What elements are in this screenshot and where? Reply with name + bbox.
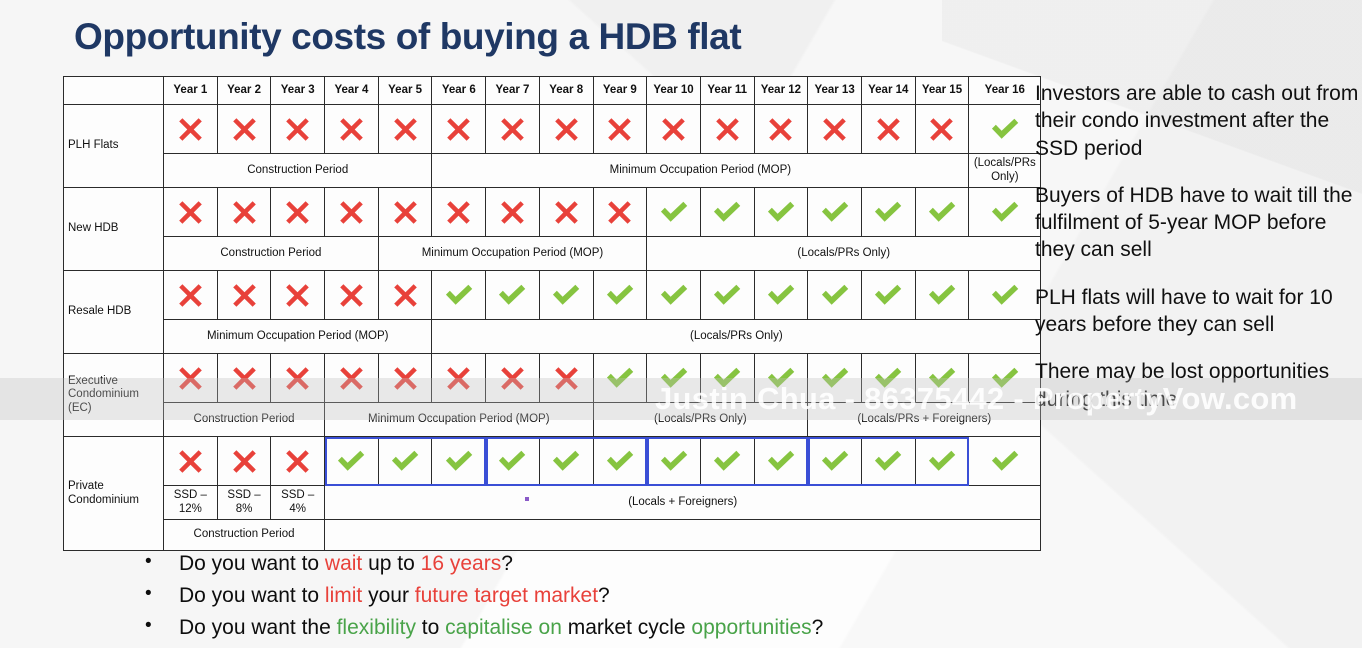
tick-icon [551, 449, 581, 473]
cell-resale-hdb-year-9 [593, 271, 647, 320]
cell-executive-condominium-ec-year-4 [325, 354, 379, 403]
cell-resale-hdb-year-12 [754, 271, 808, 320]
cross-icon [606, 199, 633, 226]
bullet-text-3: Do you want the flexibility to capitalis… [179, 612, 823, 644]
row-periods-executive-condominium-ec: Construction PeriodMinimum Occupation Pe… [64, 403, 1041, 437]
ssd-cell-year-2: SSD – 8% [217, 486, 271, 520]
tick-icon [990, 449, 1020, 473]
column-header-year-3: Year 3 [271, 77, 325, 105]
cross-icon [392, 365, 419, 392]
row-periods-resale-hdb: Minimum Occupation Period (MOP)(Locals/P… [64, 320, 1041, 354]
cell-executive-condominium-ec-year-16 [969, 354, 1041, 403]
column-header-year-1: Year 1 [164, 77, 218, 105]
cell-plh-flats-year-9 [593, 105, 647, 154]
cell-resale-hdb-year-1 [164, 271, 218, 320]
period-label-new-hdb-1: Construction Period [164, 237, 379, 271]
cross-icon [714, 116, 741, 143]
bullet-2-part-5: ? [598, 584, 610, 607]
tick-icon [659, 200, 689, 224]
column-header-year-8: Year 8 [539, 77, 593, 105]
cell-plh-flats-year-5 [378, 105, 432, 154]
tick-icon [873, 366, 903, 390]
cell-resale-hdb-year-6 [432, 271, 486, 320]
cell-private-condominium-year-5 [378, 437, 432, 486]
bullet-1-part-3: up to [362, 552, 420, 575]
tick-icon [497, 449, 527, 473]
cell-resale-hdb-year-4 [325, 271, 379, 320]
column-header-year-13: Year 13 [808, 77, 862, 105]
period-label-executive-condominium-ec-4: (Locals/PRs + Foreigners) [808, 403, 1041, 437]
cell-private-condominium-year-3 [271, 437, 325, 486]
cell-resale-hdb-year-13 [808, 271, 862, 320]
cell-new-hdb-year-1 [164, 188, 218, 237]
tick-icon [820, 366, 850, 390]
row-label-executive-condominium-ec: Executive Condominium (EC) [64, 354, 164, 437]
column-header-year-2: Year 2 [217, 77, 271, 105]
column-header-year-9: Year 9 [593, 77, 647, 105]
cell-private-condominium-year-6 [432, 437, 486, 486]
table-row-executive-condominium-ec: Executive Condominium (EC) [64, 354, 1041, 403]
bullet-3-part-1: Do you want the [179, 616, 337, 639]
cell-private-condominium-year-9 [593, 437, 647, 486]
column-header-year-4: Year 4 [325, 77, 379, 105]
ssd-cell-year-1: SSD – 12% [164, 486, 218, 520]
cross-icon [338, 365, 365, 392]
period-label-executive-condominium-ec-1: Construction Period [164, 403, 325, 437]
cell-executive-condominium-ec-year-8 [539, 354, 593, 403]
tick-icon [766, 449, 796, 473]
cross-icon [928, 116, 955, 143]
tick-icon [873, 200, 903, 224]
cross-icon [875, 116, 902, 143]
cross-icon [231, 365, 258, 392]
period-label-resale-hdb-2: (Locals/PRs Only) [432, 320, 1041, 354]
cross-icon [231, 282, 258, 309]
period-label-plh-flats-1: Construction Period [164, 154, 432, 188]
tick-icon [659, 366, 689, 390]
table-row-private-condominium: Private Condominium [64, 437, 1041, 486]
footer-label-private-condominium-1: Construction Period [164, 520, 325, 551]
cell-private-condominium-year-14 [861, 437, 915, 486]
tick-icon [990, 366, 1020, 390]
period-label-resale-hdb-1: Minimum Occupation Period (MOP) [164, 320, 432, 354]
cell-executive-condominium-ec-year-10 [647, 354, 701, 403]
cross-icon [553, 365, 580, 392]
column-header-year-5: Year 5 [378, 77, 432, 105]
tick-icon [659, 283, 689, 307]
tick-icon [444, 449, 474, 473]
cell-private-condominium-year-1 [164, 437, 218, 486]
bullet-dot-icon: • [145, 548, 179, 577]
bullet-3-part-3: to [416, 616, 445, 639]
cell-executive-condominium-ec-year-9 [593, 354, 647, 403]
bullet-item-1: •Do you want to wait up to 16 years? [145, 548, 823, 580]
tick-icon [820, 283, 850, 307]
bullet-text-2: Do you want to limit your future target … [179, 580, 610, 612]
tick-icon [927, 283, 957, 307]
cell-resale-hdb-year-7 [486, 271, 540, 320]
bullet-3-part-7: ? [812, 616, 824, 639]
cross-icon [231, 448, 258, 475]
cross-icon [177, 116, 204, 143]
note-2: Buyers of HDB have to wait till the fulf… [1035, 182, 1362, 264]
cross-icon [392, 199, 419, 226]
row-label-plh-flats: PLH Flats [64, 105, 164, 188]
column-header-year-14: Year 14 [861, 77, 915, 105]
cell-executive-condominium-ec-year-6 [432, 354, 486, 403]
cross-icon [284, 199, 311, 226]
cell-plh-flats-year-6 [432, 105, 486, 154]
cell-private-condominium-year-7 [486, 437, 540, 486]
bullet-dot-icon: • [145, 580, 179, 609]
cross-icon [338, 199, 365, 226]
period-label-new-hdb-3: (Locals/PRs Only) [647, 237, 1041, 271]
bullet-list: •Do you want to wait up to 16 years?•Do … [145, 548, 823, 644]
table-header-row: Year 1Year 2Year 3Year 4Year 5Year 6Year… [64, 77, 1041, 105]
period-label-executive-condominium-ec-2: Minimum Occupation Period (MOP) [325, 403, 593, 437]
cross-icon [606, 116, 633, 143]
tick-icon [712, 283, 742, 307]
period-label-private-condominium-1: (Locals + Foreigners) [325, 486, 1041, 520]
cross-icon [445, 199, 472, 226]
cross-icon [284, 448, 311, 475]
tick-icon [820, 200, 850, 224]
cell-resale-hdb-year-14 [861, 271, 915, 320]
bullet-item-2: •Do you want to limit your future target… [145, 580, 823, 612]
row-label-new-hdb: New HDB [64, 188, 164, 271]
cell-plh-flats-year-11 [700, 105, 754, 154]
cell-new-hdb-year-15 [915, 188, 969, 237]
cell-executive-condominium-ec-year-11 [700, 354, 754, 403]
cross-icon [231, 116, 258, 143]
cell-resale-hdb-year-15 [915, 271, 969, 320]
cell-plh-flats-year-3 [271, 105, 325, 154]
column-header-year-7: Year 7 [486, 77, 540, 105]
bullet-1-part-4: 16 years [421, 552, 502, 575]
cell-executive-condominium-ec-year-14 [861, 354, 915, 403]
cell-new-hdb-year-7 [486, 188, 540, 237]
bullet-item-3: •Do you want the flexibility to capitali… [145, 612, 823, 644]
footer-label-private-condominium-2 [325, 520, 1041, 551]
cell-new-hdb-year-4 [325, 188, 379, 237]
tick-icon [927, 449, 957, 473]
cross-icon [177, 282, 204, 309]
tick-icon [820, 449, 850, 473]
cell-executive-condominium-ec-year-1 [164, 354, 218, 403]
tick-icon [605, 283, 635, 307]
cell-executive-condominium-ec-year-5 [378, 354, 432, 403]
opportunity-cost-table: Year 1Year 2Year 3Year 4Year 5Year 6Year… [63, 76, 1041, 551]
bullet-2-part-3: your [362, 584, 415, 607]
cross-icon [553, 199, 580, 226]
tick-icon [766, 366, 796, 390]
cell-new-hdb-year-14 [861, 188, 915, 237]
bullet-3-part-4: capitalise on [445, 616, 562, 639]
column-header-year-15: Year 15 [915, 77, 969, 105]
tick-icon [712, 366, 742, 390]
cell-plh-flats-year-15 [915, 105, 969, 154]
tick-icon [990, 283, 1020, 307]
cell-resale-hdb-year-3 [271, 271, 325, 320]
cell-private-condominium-year-12 [754, 437, 808, 486]
cell-private-condominium-year-2 [217, 437, 271, 486]
bullet-text-1: Do you want to wait up to 16 years? [179, 548, 513, 580]
cross-icon [499, 365, 526, 392]
bullet-dot-icon: • [145, 612, 179, 641]
cross-icon [392, 116, 419, 143]
note-4: There may be lost opportunities during t… [1035, 358, 1362, 413]
cell-private-condominium-year-10 [647, 437, 701, 486]
cell-resale-hdb-year-8 [539, 271, 593, 320]
tick-icon [990, 117, 1020, 141]
column-header-year-12: Year 12 [754, 77, 808, 105]
tick-icon [336, 449, 366, 473]
cell-new-hdb-year-12 [754, 188, 808, 237]
cell-executive-condominium-ec-year-12 [754, 354, 808, 403]
cross-icon [767, 116, 794, 143]
cross-icon [499, 116, 526, 143]
cell-plh-flats-year-2 [217, 105, 271, 154]
stray-dot-marker [525, 497, 529, 501]
cross-icon [392, 282, 419, 309]
table-row-new-hdb: New HDB [64, 188, 1041, 237]
tick-icon [990, 200, 1020, 224]
page-title: Opportunity costs of buying a HDB flat [74, 16, 741, 58]
cell-plh-flats-year-8 [539, 105, 593, 154]
tick-icon [390, 449, 420, 473]
cell-new-hdb-year-16 [969, 188, 1041, 237]
tick-icon [873, 283, 903, 307]
cell-new-hdb-year-11 [700, 188, 754, 237]
cross-icon [660, 116, 687, 143]
tick-icon [766, 200, 796, 224]
cross-icon [284, 282, 311, 309]
bullet-1-part-1: Do you want to [179, 552, 325, 575]
bullet-3-part-6: opportunities [691, 616, 811, 639]
column-header-year-10: Year 10 [647, 77, 701, 105]
note-1: Investors are able to cash out from thei… [1035, 80, 1362, 162]
bullet-3-part-5: market cycle [562, 616, 692, 639]
cell-plh-flats-year-7 [486, 105, 540, 154]
cross-icon [338, 282, 365, 309]
tick-icon [659, 449, 689, 473]
cell-new-hdb-year-2 [217, 188, 271, 237]
cell-resale-hdb-year-11 [700, 271, 754, 320]
cross-icon [177, 365, 204, 392]
cell-plh-flats-year-4 [325, 105, 379, 154]
bullet-1-part-5: ? [501, 552, 513, 575]
cell-plh-flats-year-12 [754, 105, 808, 154]
column-header-year-11: Year 11 [700, 77, 754, 105]
row-footer-private-condominium: Construction Period [64, 520, 1041, 551]
cross-icon [445, 116, 472, 143]
cell-private-condominium-year-13 [808, 437, 862, 486]
cross-icon [553, 116, 580, 143]
cell-private-condominium-year-15 [915, 437, 969, 486]
ssd-cell-year-3: SSD – 4% [271, 486, 325, 520]
cell-executive-condominium-ec-year-3 [271, 354, 325, 403]
tick-icon [551, 283, 581, 307]
cell-executive-condominium-ec-year-13 [808, 354, 862, 403]
cell-new-hdb-year-3 [271, 188, 325, 237]
cross-icon [445, 365, 472, 392]
cross-icon [177, 199, 204, 226]
tick-icon [444, 283, 474, 307]
cell-plh-flats-year-16 [969, 105, 1041, 154]
cell-new-hdb-year-5 [378, 188, 432, 237]
cell-executive-condominium-ec-year-15 [915, 354, 969, 403]
column-header-year-16: Year 16 [969, 77, 1041, 105]
cell-new-hdb-year-9 [593, 188, 647, 237]
cell-executive-condominium-ec-year-2 [217, 354, 271, 403]
cell-new-hdb-year-8 [539, 188, 593, 237]
row-periods-new-hdb: Construction PeriodMinimum Occupation Pe… [64, 237, 1041, 271]
cross-icon [284, 365, 311, 392]
note-3: PLH flats will have to wait for 10 years… [1035, 284, 1362, 339]
cross-icon [338, 116, 365, 143]
tick-icon [712, 200, 742, 224]
table-corner-cell [64, 77, 164, 105]
tick-icon [873, 449, 903, 473]
cross-icon [499, 199, 526, 226]
tick-icon [766, 283, 796, 307]
period-label-plh-flats-3: (Locals/PRs Only) [969, 154, 1041, 188]
bullet-3-part-2: flexibility [337, 616, 416, 639]
cell-executive-condominium-ec-year-7 [486, 354, 540, 403]
cell-resale-hdb-year-10 [647, 271, 701, 320]
cell-private-condominium-year-4 [325, 437, 379, 486]
cell-plh-flats-year-14 [861, 105, 915, 154]
tick-icon [927, 200, 957, 224]
row-label-private-condominium: Private Condominium [64, 437, 164, 551]
cell-resale-hdb-year-5 [378, 271, 432, 320]
row-ssd-private-condominium: SSD – 12%SSD – 8%SSD – 4%(Locals + Forei… [64, 486, 1041, 520]
cell-new-hdb-year-13 [808, 188, 862, 237]
bullet-2-part-4: future target market [415, 584, 598, 607]
period-label-new-hdb-2: Minimum Occupation Period (MOP) [378, 237, 646, 271]
tick-icon [712, 449, 742, 473]
tick-icon [927, 366, 957, 390]
table-row-resale-hdb: Resale HDB [64, 271, 1041, 320]
cell-new-hdb-year-10 [647, 188, 701, 237]
column-header-year-6: Year 6 [432, 77, 486, 105]
cell-plh-flats-year-1 [164, 105, 218, 154]
cell-private-condominium-year-16 [969, 437, 1041, 486]
bullet-1-part-2: wait [325, 552, 362, 575]
cell-plh-flats-year-10 [647, 105, 701, 154]
cross-icon [284, 116, 311, 143]
cell-resale-hdb-year-2 [217, 271, 271, 320]
notes-panel: Investors are able to cash out from thei… [1035, 80, 1362, 413]
tick-icon [497, 283, 527, 307]
cross-icon [177, 448, 204, 475]
bullet-2-part-1: Do you want to [179, 584, 325, 607]
bullet-2-part-2: limit [325, 584, 362, 607]
cross-icon [231, 199, 258, 226]
cell-private-condominium-year-8 [539, 437, 593, 486]
row-periods-plh-flats: Construction PeriodMinimum Occupation Pe… [64, 154, 1041, 188]
cell-resale-hdb-year-16 [969, 271, 1041, 320]
period-label-executive-condominium-ec-3: (Locals/PRs Only) [593, 403, 808, 437]
tick-icon [605, 366, 635, 390]
cross-icon [821, 116, 848, 143]
tick-icon [605, 449, 635, 473]
cell-private-condominium-year-11 [700, 437, 754, 486]
table-row-plh-flats: PLH Flats [64, 105, 1041, 154]
period-label-plh-flats-2: Minimum Occupation Period (MOP) [432, 154, 969, 188]
row-label-resale-hdb: Resale HDB [64, 271, 164, 354]
cell-plh-flats-year-13 [808, 105, 862, 154]
cell-new-hdb-year-6 [432, 188, 486, 237]
